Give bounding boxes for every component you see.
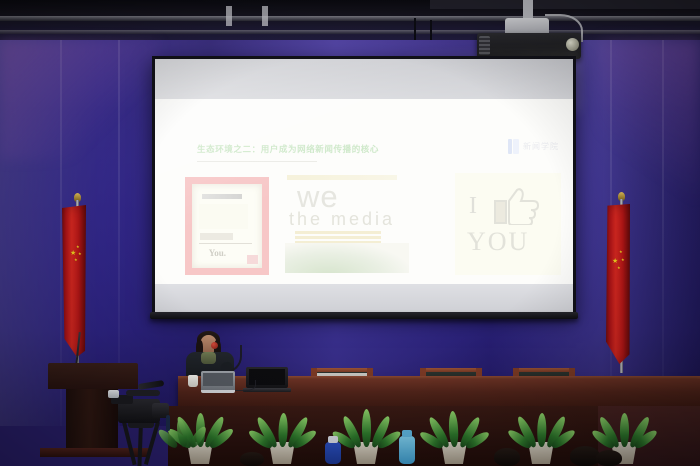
school-logo-text: 新闻学院 [523, 141, 559, 152]
audience-head [494, 448, 520, 466]
audience-head [596, 450, 622, 466]
ceiling-beam [430, 0, 700, 9]
camera-hanging-microphone [166, 415, 170, 431]
audience-head [240, 452, 264, 466]
time-cover-caption: You. [209, 248, 226, 258]
potted-plant [268, 404, 298, 464]
we-the-media-line2: the media [289, 209, 395, 230]
i-like-you-line1: I [469, 193, 477, 220]
projector-vent [479, 36, 490, 55]
thumbs-up-icon [493, 187, 539, 225]
screen-bottom-bar [150, 312, 578, 319]
paper-cup [188, 375, 198, 387]
slide-title-underline [197, 161, 317, 162]
lecture-hall-photo: 生态环境之二：用户成为网络新闻传播的核心 新闻学院 You. [0, 0, 700, 466]
ceiling-panel [262, 6, 268, 26]
ceiling-rail [0, 16, 700, 21]
time-magazine-cover-figure: You. [185, 177, 269, 275]
ceiling-rail [0, 30, 700, 34]
i-like-you-figure: I YOU [455, 173, 561, 275]
water-bottle [325, 442, 341, 464]
presentation-slide: 生态环境之二：用户成为网络新闻传播的核心 新闻学院 You. [155, 99, 573, 284]
potted-plant [440, 402, 470, 464]
projection-screen: 生态环境之二：用户成为网络新闻传播的核心 新闻学院 You. [152, 56, 576, 315]
potted-plant [172, 416, 198, 464]
desk-cable [235, 380, 256, 391]
ceiling-wire [414, 18, 416, 42]
camera-tripod [112, 422, 168, 466]
slide-title: 生态环境之二：用户成为网络新闻传播的核心 [197, 143, 379, 155]
curtain-highlight [0, 40, 160, 160]
i-like-you-line2: YOU [467, 227, 529, 257]
ceiling-panel [226, 6, 232, 26]
potted-plant [527, 404, 557, 464]
school-logo: 新闻学院 [508, 139, 559, 154]
curtain-highlight [600, 40, 700, 210]
microphone-icon [211, 342, 218, 349]
book-logo-icon [508, 139, 519, 154]
tablet-screen [203, 373, 233, 386]
water-bottle [399, 436, 415, 464]
camera-viewfinder [108, 390, 119, 398]
screen-overscan-top [155, 59, 573, 99]
lectern-top [48, 363, 138, 389]
we-the-media-figure: we the media [283, 173, 411, 273]
potted-plant [352, 400, 382, 464]
we-the-media-line1: we [297, 181, 339, 212]
ceiling-wire [430, 20, 432, 40]
projector-lens-icon [566, 38, 579, 51]
